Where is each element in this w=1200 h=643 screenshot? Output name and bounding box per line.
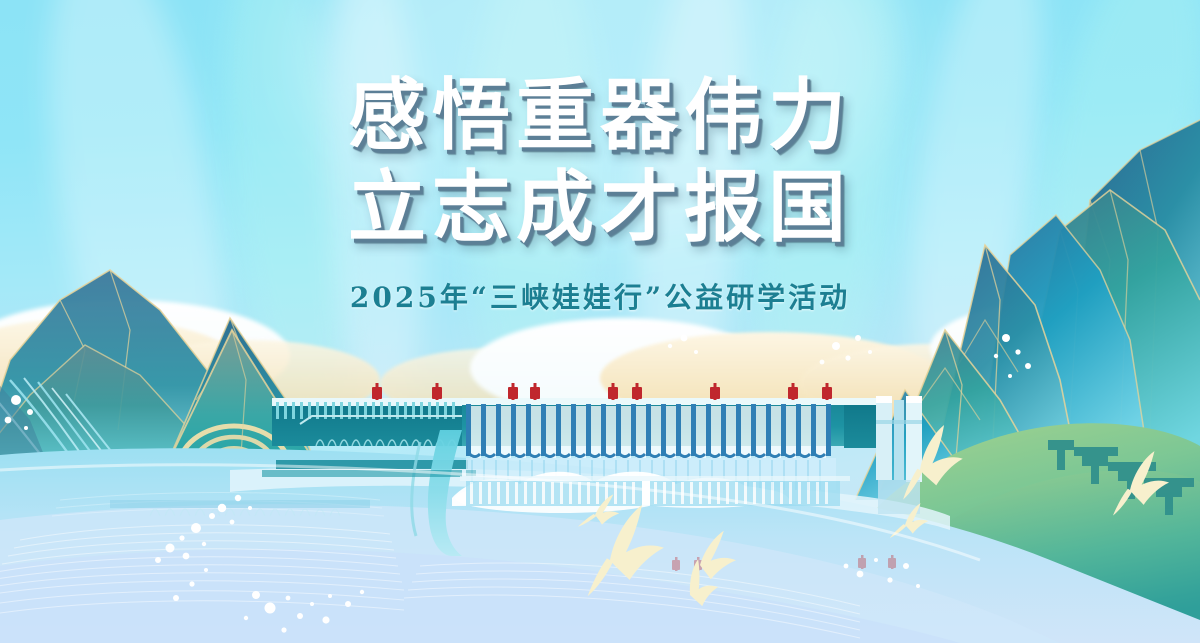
banner-image: 感悟重器伟力 立志成才报国 2025年“三峡娃娃行”公益研学活动 xyxy=(0,0,1200,643)
scenery-layer xyxy=(0,0,1200,643)
ship-lock-tower xyxy=(876,396,922,514)
